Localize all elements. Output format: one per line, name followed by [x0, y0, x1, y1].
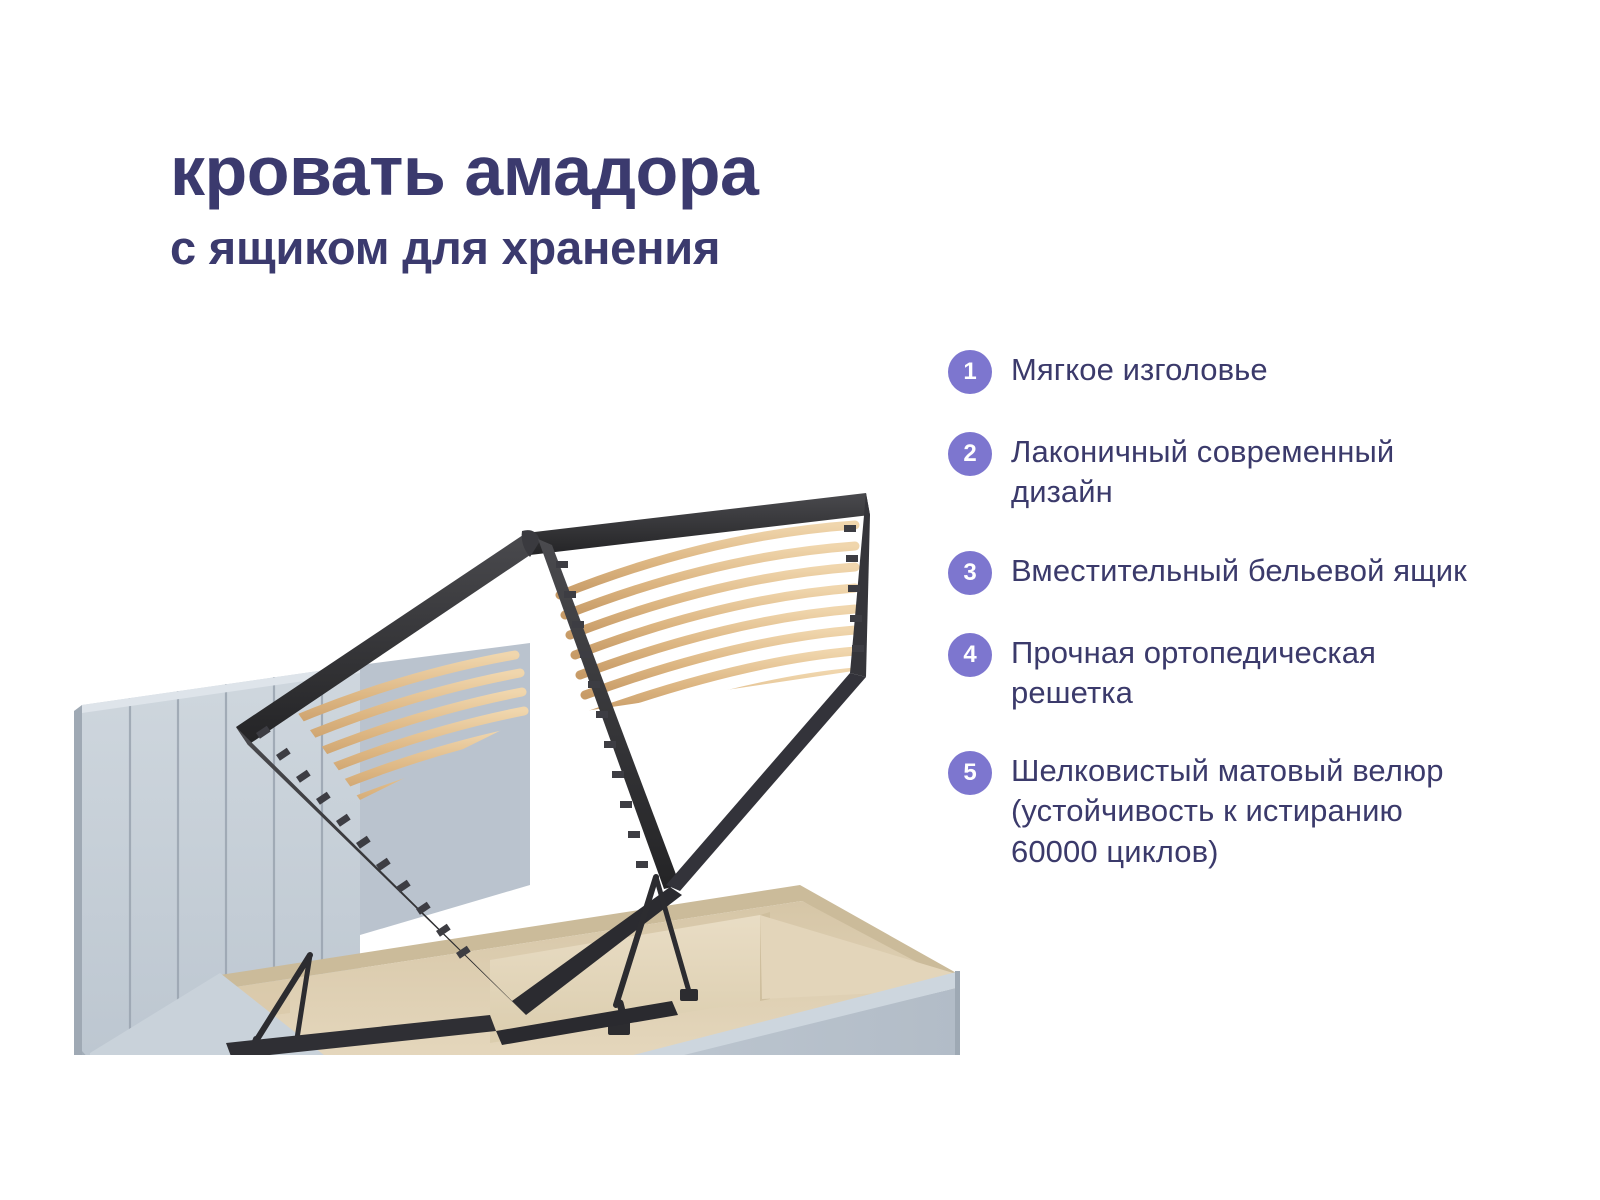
feature-badge-2: 2 [948, 432, 992, 476]
feature-item-5: 5 Шелковистый матовый велюр (устойчивост… [948, 749, 1478, 872]
product-image [60, 415, 970, 1055]
page-title: кровать амадора [170, 136, 1070, 206]
feature-badge-1: 1 [948, 350, 992, 394]
feature-item-3: 3 Вместительный бельевой ящик [948, 549, 1478, 595]
feature-list: 1 Мягкое изголовье 2 Лаконичный современ… [948, 348, 1478, 908]
feature-label-4: Прочная ортопедическая решетка [1011, 631, 1478, 714]
feature-item-4: 4 Прочная ортопедическая решетка [948, 631, 1478, 714]
feature-label-2: Лаконичный современный дизайн [1011, 430, 1478, 513]
feature-item-1: 1 Мягкое изголовье [948, 348, 1478, 394]
header: кровать амадора с ящиком для хранения [170, 136, 1070, 271]
feature-label-3: Вместительный бельевой ящик [1011, 549, 1467, 591]
product-infographic: кровать амадора с ящиком для хранения [0, 0, 1600, 1200]
feature-badge-4: 4 [948, 633, 992, 677]
page-subtitle: с ящиком для хранения [170, 224, 1070, 271]
feature-item-2: 2 Лаконичный современный дизайн [948, 430, 1478, 513]
feature-label-1: Мягкое изголовье [1011, 348, 1268, 390]
feature-badge-5: 5 [948, 751, 992, 795]
feature-badge-3: 3 [948, 551, 992, 595]
feature-label-5: Шелковистый матовый велюр (устойчивость … [1011, 749, 1478, 872]
